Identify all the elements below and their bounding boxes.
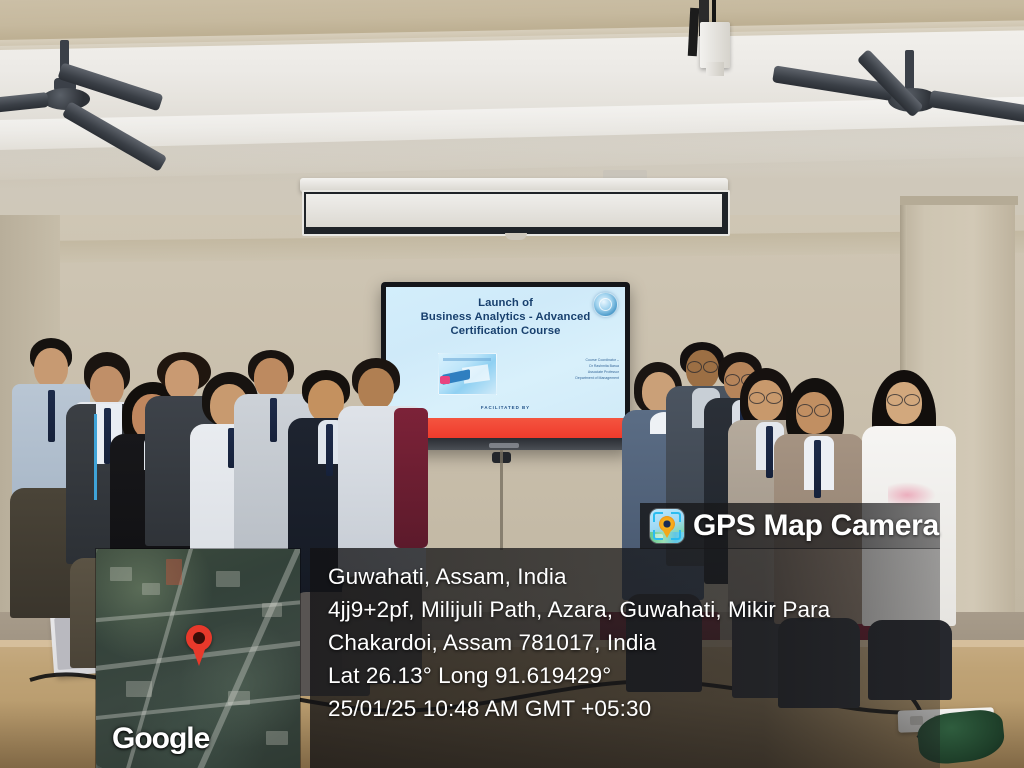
google-watermark: Google bbox=[112, 722, 209, 756]
gps-map-camera-banner: GPS Map Camera bbox=[640, 503, 940, 549]
map-building bbox=[142, 583, 160, 595]
map-building bbox=[216, 571, 240, 587]
slide-title: Launch of Business Analytics - Advanced … bbox=[394, 297, 617, 338]
coordinator-line-4: Department of Management bbox=[533, 375, 619, 381]
slide-coordinator-block: Course Coordinator – Dr Rashmita Barua A… bbox=[533, 357, 619, 382]
coordinates-line: Lat 26.13° Long 91.619429° bbox=[328, 659, 940, 692]
address-line-2: Chakardoi, Assam 781017, India bbox=[328, 626, 940, 659]
screen-surface bbox=[306, 194, 722, 227]
screen-casing bbox=[302, 190, 730, 236]
slide-title-line-1: Launch of bbox=[394, 297, 617, 311]
app-name: GPS Map Camera bbox=[693, 509, 939, 543]
location-pin-icon bbox=[186, 625, 212, 651]
gps-info-panel: Guwahati, Assam, India 4jj9+2pf, Milijul… bbox=[310, 548, 940, 768]
slide-title-line-3: Certification Course bbox=[394, 325, 617, 339]
map-thumbnail[interactable]: Google bbox=[96, 549, 300, 768]
map-building bbox=[266, 731, 288, 745]
timestamp-line: 25/01/25 10:48 AM GMT +05:30 bbox=[328, 692, 940, 725]
map-building bbox=[110, 567, 132, 581]
map-building bbox=[228, 691, 250, 705]
screen-pull-handle bbox=[505, 233, 527, 240]
address-line-1: 4jj9+2pf, Milijuli Path, Azara, Guwahati… bbox=[328, 593, 940, 626]
display-cable bbox=[500, 450, 503, 550]
gps-camera-pin-icon bbox=[650, 509, 684, 543]
map-building bbox=[166, 559, 182, 585]
ceiling-fan-icon bbox=[0, 40, 220, 180]
photo-screenshot: Launch of Business Analytics - Advanced … bbox=[0, 0, 1024, 768]
slide-title-line-2: Business Analytics - Advanced bbox=[394, 311, 617, 325]
pillar-top-trim bbox=[900, 196, 1018, 205]
slide-graphic bbox=[438, 353, 497, 395]
map-building bbox=[262, 603, 282, 617]
location-line: Guwahati, Assam, India bbox=[328, 560, 940, 593]
map-building bbox=[126, 681, 152, 697]
ceiling-fan-icon bbox=[780, 40, 1024, 190]
projector-mount-base bbox=[706, 62, 724, 76]
